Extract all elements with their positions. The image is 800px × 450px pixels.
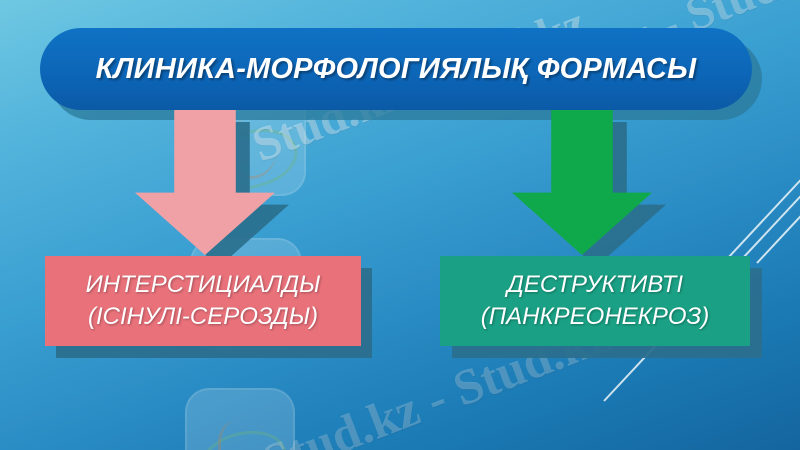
- box-destructive-line1: ДЕСТРУКТИВТІ: [507, 269, 683, 301]
- decorative-diagonal-line-2: [741, 150, 800, 260]
- box-destructive: ДЕСТРУКТИВТІ (ПАНКРЕОНЕКРОЗ): [440, 256, 750, 346]
- watermark-logo-icon: [185, 388, 295, 450]
- decorative-diagonal-line-1: [726, 162, 800, 260]
- left-arrow-group: [135, 110, 275, 255]
- box-interstitial-line2: (ІСІНУЛІ-СЕРОЗДЫ): [88, 301, 318, 333]
- box-interstitial: ИНТЕРСТИЦИАЛДЫ (ІСІНУЛІ-СЕРОЗДЫ): [45, 256, 361, 346]
- slide-canvas: Stud.kz - Stud.kz Stud.kz - Stud.kz Stud…: [0, 0, 800, 450]
- decorative-diagonal-line-3: [756, 153, 800, 264]
- box-destructive-line2: (ПАНКРЕОНЕКРОЗ): [481, 301, 709, 333]
- title-pill: КЛИНИКА-МОРФОЛОГИЯЛЫҚ ФОРМАСЫ: [40, 28, 752, 110]
- box-interstitial-line1: ИНТЕРСТИЦИАЛДЫ: [86, 269, 321, 301]
- page-title: КЛИНИКА-МОРФОЛОГИЯЛЫҚ ФОРМАСЫ: [96, 53, 697, 86]
- right-arrow-group: [512, 110, 652, 255]
